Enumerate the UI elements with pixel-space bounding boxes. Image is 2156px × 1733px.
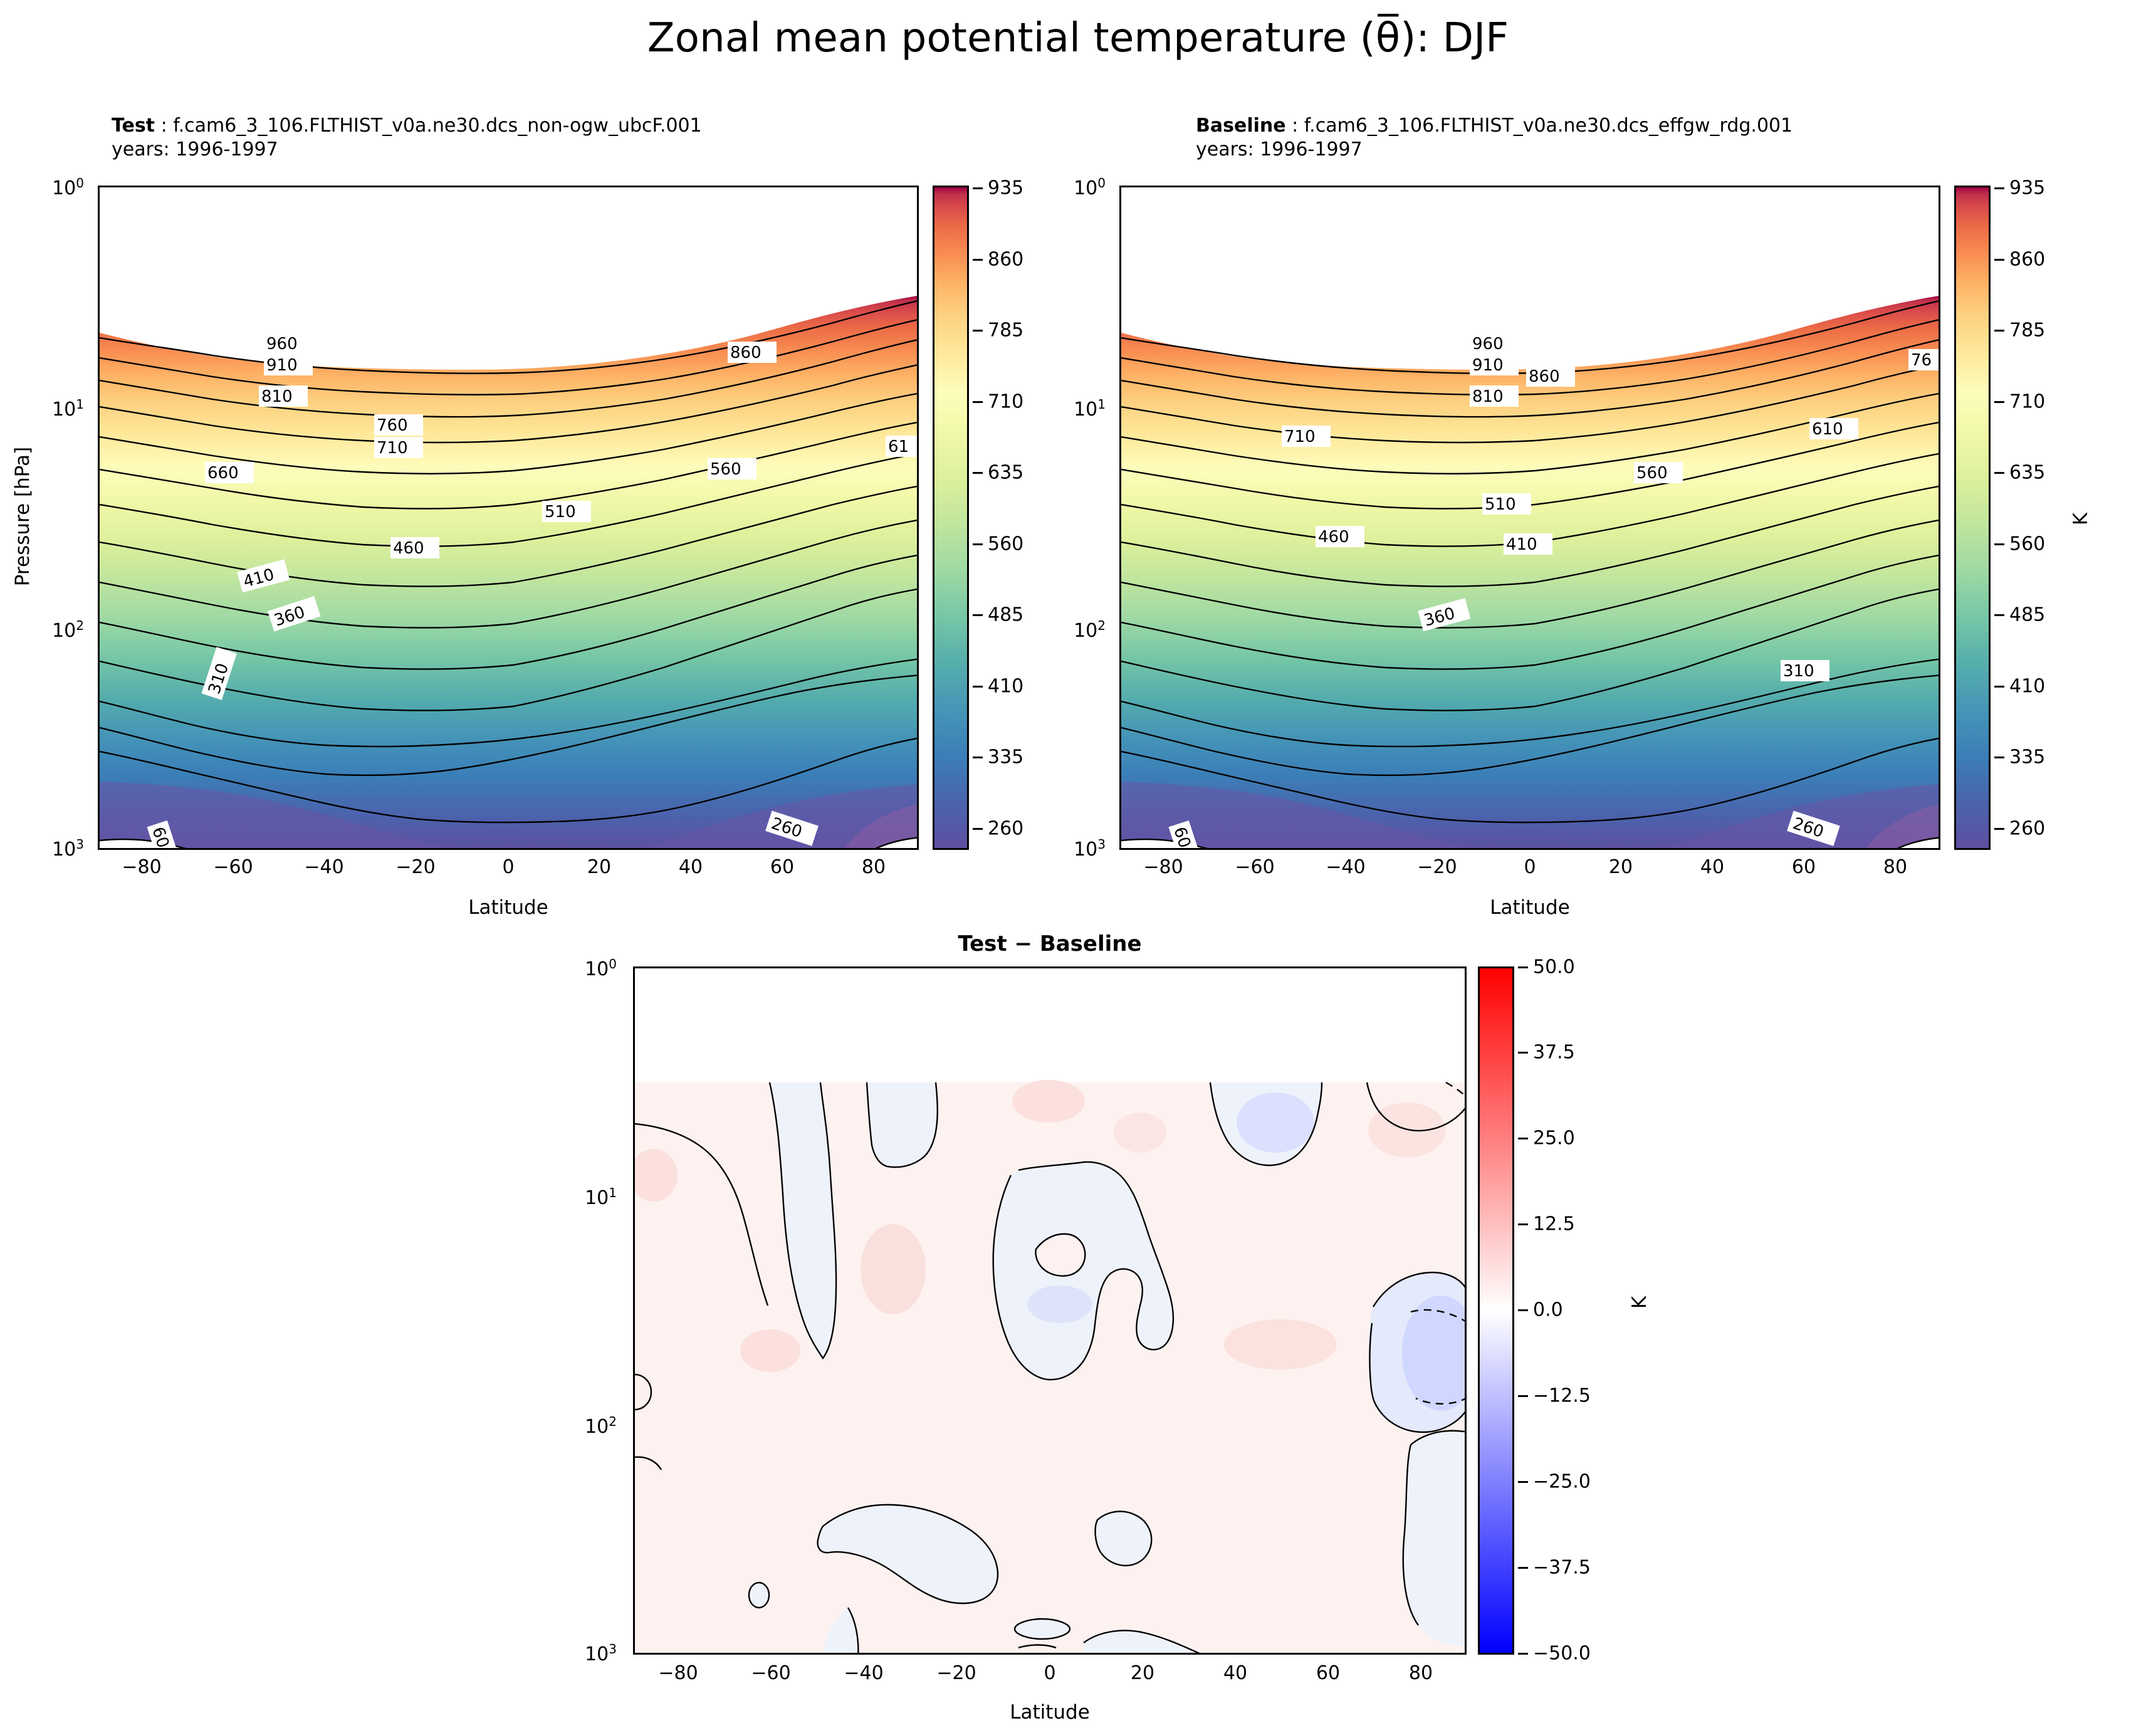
test-plot-svg: 960 910 860 810 760 710 660 61 560 510 bbox=[100, 187, 919, 850]
cb-tick-485: 485 bbox=[988, 604, 1023, 626]
test-x-axis-label: Latitude bbox=[98, 896, 919, 919]
difference-colorbar-unit: K bbox=[1628, 1284, 1651, 1321]
contour-label-860: 860 bbox=[730, 343, 761, 362]
test-colorbar[interactable] bbox=[933, 186, 969, 850]
contour-label-460: 460 bbox=[393, 539, 424, 558]
x-tick-80: 80 bbox=[862, 856, 886, 878]
x-tick-80: 80 bbox=[1883, 856, 1907, 878]
x-tick-0: 0 bbox=[1524, 856, 1536, 878]
diff-y-axis: 100 101 102 103 bbox=[564, 966, 625, 1655]
x-tick--20: −20 bbox=[395, 856, 435, 878]
difference-contour-plot[interactable] bbox=[633, 966, 1467, 1655]
x-tick--60: −60 bbox=[213, 856, 253, 878]
x-tick-0: 0 bbox=[502, 856, 514, 878]
baseline-role-label: Baseline bbox=[1196, 115, 1286, 137]
baseline-contour-plot[interactable]: 960 910 860 810 76 710 610 560 510 460 bbox=[1119, 186, 1940, 850]
cb-tick-860: 860 bbox=[2009, 249, 2045, 271]
cb-tick-560: 560 bbox=[988, 533, 1023, 555]
contour-label-560: 560 bbox=[1636, 464, 1668, 483]
baseline-y-axis: 100 101 102 103 bbox=[1057, 186, 1114, 850]
cb-tick--50: −50.0 bbox=[1533, 1643, 1591, 1665]
y-tick-1: 100 bbox=[585, 956, 617, 980]
contour-label-960: 960 bbox=[1472, 335, 1504, 353]
contour-label-610: 610 bbox=[1812, 420, 1843, 439]
baseline-colorbar[interactable] bbox=[1954, 186, 1991, 850]
contour-label-460: 460 bbox=[1318, 528, 1349, 547]
cb-tick-935: 935 bbox=[2009, 177, 2045, 199]
x-tick-80: 80 bbox=[1409, 1662, 1433, 1684]
contour-label-710: 710 bbox=[1284, 427, 1316, 446]
y-tick-1: 100 bbox=[1074, 175, 1106, 199]
cb-tick--12_5: −12.5 bbox=[1533, 1385, 1591, 1407]
cb-tick-335: 335 bbox=[2009, 746, 2045, 768]
baseline-colorbar-unit: K bbox=[2070, 500, 2092, 538]
cb-tick--37_5: −37.5 bbox=[1533, 1557, 1591, 1579]
diff-panel-title: Test − Baseline bbox=[633, 931, 1467, 956]
x-tick-60: 60 bbox=[770, 856, 794, 878]
contour-label-410: 410 bbox=[1506, 535, 1537, 554]
x-tick--20: −20 bbox=[936, 1662, 976, 1684]
y-tick-100: 102 bbox=[52, 618, 84, 642]
cb-tick-260: 260 bbox=[988, 818, 1023, 840]
baseline-years-label: years: 1996-1997 bbox=[1196, 139, 1363, 160]
x-tick-60: 60 bbox=[1316, 1662, 1340, 1684]
baseline-panel-title: Baseline : f.cam6_3_106.FLTHIST_v0a.ne30… bbox=[1196, 114, 1792, 162]
cb-tick-37_5: 37.5 bbox=[1533, 1042, 1575, 1064]
cb-tick-485: 485 bbox=[2009, 604, 2045, 626]
cb-tick-635: 635 bbox=[988, 462, 1023, 484]
cb-tick-335: 335 bbox=[988, 746, 1023, 768]
contour-label-510: 510 bbox=[1485, 495, 1516, 514]
contour-label-810: 810 bbox=[1472, 387, 1504, 406]
baseline-x-axis-label: Latitude bbox=[1119, 896, 1940, 919]
x-tick-20: 20 bbox=[1609, 856, 1633, 878]
cb-tick-860: 860 bbox=[988, 249, 1023, 271]
y-tick-1: 100 bbox=[52, 175, 84, 199]
contour-label-610: 61 bbox=[888, 437, 909, 456]
figure-title: Zonal mean potential temperature (θ̅): D… bbox=[0, 15, 2156, 61]
contour-label-760: 76 bbox=[1911, 351, 1932, 370]
difference-colorbar[interactable] bbox=[1478, 966, 1514, 1655]
contour-label-760: 760 bbox=[377, 416, 408, 435]
contour-label-710: 710 bbox=[377, 439, 408, 458]
y-tick-10: 101 bbox=[1074, 397, 1106, 421]
diff-plot-svg bbox=[635, 968, 1467, 1655]
y-tick-1000: 103 bbox=[52, 837, 84, 861]
test-y-axis-label: Pressure [hPa] bbox=[11, 422, 34, 610]
baseline-plot-svg: 960 910 860 810 76 710 610 560 510 460 bbox=[1121, 187, 1940, 850]
contour-label-860: 860 bbox=[1529, 367, 1560, 386]
x-tick--40: −40 bbox=[304, 856, 343, 878]
cb-tick-50: 50.0 bbox=[1533, 956, 1575, 978]
x-tick-40: 40 bbox=[1223, 1662, 1247, 1684]
contour-label-960: 960 bbox=[266, 335, 298, 353]
x-tick--80: −80 bbox=[658, 1662, 698, 1684]
cb-tick-25: 25.0 bbox=[1533, 1128, 1575, 1149]
test-case-name: f.cam6_3_106.FLTHIST_v0a.ne30.dcs_non-og… bbox=[173, 115, 702, 137]
x-tick--80: −80 bbox=[1143, 856, 1183, 878]
difference-colorbar-gradient bbox=[1480, 968, 1512, 1653]
baseline-colorbar-gradient bbox=[1956, 187, 1989, 848]
cb-tick-410: 410 bbox=[988, 676, 1023, 698]
x-tick-40: 40 bbox=[1700, 856, 1724, 878]
x-tick--80: −80 bbox=[122, 856, 161, 878]
x-tick-0: 0 bbox=[1044, 1662, 1055, 1684]
contour-label-510: 510 bbox=[545, 503, 576, 521]
test-contour-plot[interactable]: 960 910 860 810 760 710 660 61 560 510 bbox=[98, 186, 919, 850]
cb-tick-410: 410 bbox=[2009, 676, 2045, 698]
x-tick--60: −60 bbox=[1235, 856, 1274, 878]
cb-tick-260: 260 bbox=[2009, 818, 2045, 840]
cb-tick-785: 785 bbox=[988, 320, 1023, 342]
cb-tick--25: −25.0 bbox=[1533, 1471, 1591, 1493]
y-tick-1000: 103 bbox=[1074, 837, 1106, 861]
cb-tick-710: 710 bbox=[2009, 391, 2045, 413]
y-tick-10: 101 bbox=[52, 397, 84, 421]
cb-tick-635: 635 bbox=[2009, 462, 2045, 484]
y-tick-1000: 103 bbox=[585, 1641, 617, 1665]
cb-tick-935: 935 bbox=[988, 177, 1023, 199]
baseline-case-name: f.cam6_3_106.FLTHIST_v0a.ne30.dcs_effgw_… bbox=[1304, 115, 1792, 137]
x-tick--40: −40 bbox=[1326, 856, 1365, 878]
y-tick-10: 101 bbox=[585, 1185, 617, 1209]
y-tick-100: 102 bbox=[585, 1414, 617, 1438]
test-colorbar-gradient bbox=[934, 187, 967, 848]
x-tick-40: 40 bbox=[679, 856, 703, 878]
x-tick--20: −20 bbox=[1417, 856, 1457, 878]
cb-tick-710: 710 bbox=[988, 391, 1023, 413]
cb-tick-785: 785 bbox=[2009, 320, 2045, 342]
contour-label-560: 560 bbox=[710, 460, 741, 479]
x-tick-20: 20 bbox=[587, 856, 611, 878]
cb-tick-12_5: 12.5 bbox=[1533, 1213, 1575, 1235]
x-tick--40: −40 bbox=[844, 1662, 883, 1684]
diff-x-axis-label: Latitude bbox=[633, 1701, 1467, 1724]
contour-label-910: 910 bbox=[266, 356, 298, 375]
x-tick--60: −60 bbox=[751, 1662, 790, 1684]
test-y-axis: 100 101 102 103 bbox=[35, 186, 93, 850]
x-tick-20: 20 bbox=[1131, 1662, 1154, 1684]
contour-label-660: 660 bbox=[207, 464, 239, 483]
y-tick-100: 102 bbox=[1074, 618, 1106, 642]
contour-label-310: 310 bbox=[1783, 662, 1814, 681]
cb-tick-560: 560 bbox=[2009, 533, 2045, 555]
cb-tick-0: 0.0 bbox=[1533, 1299, 1563, 1321]
contour-label-910: 910 bbox=[1472, 356, 1504, 375]
test-role-label: Test bbox=[112, 115, 155, 137]
contour-label-810: 810 bbox=[261, 387, 293, 406]
test-years-label: years: 1996-1997 bbox=[112, 139, 278, 160]
x-tick-60: 60 bbox=[1792, 856, 1816, 878]
test-panel-title: Test : f.cam6_3_106.FLTHIST_v0a.ne30.dcs… bbox=[112, 114, 702, 162]
